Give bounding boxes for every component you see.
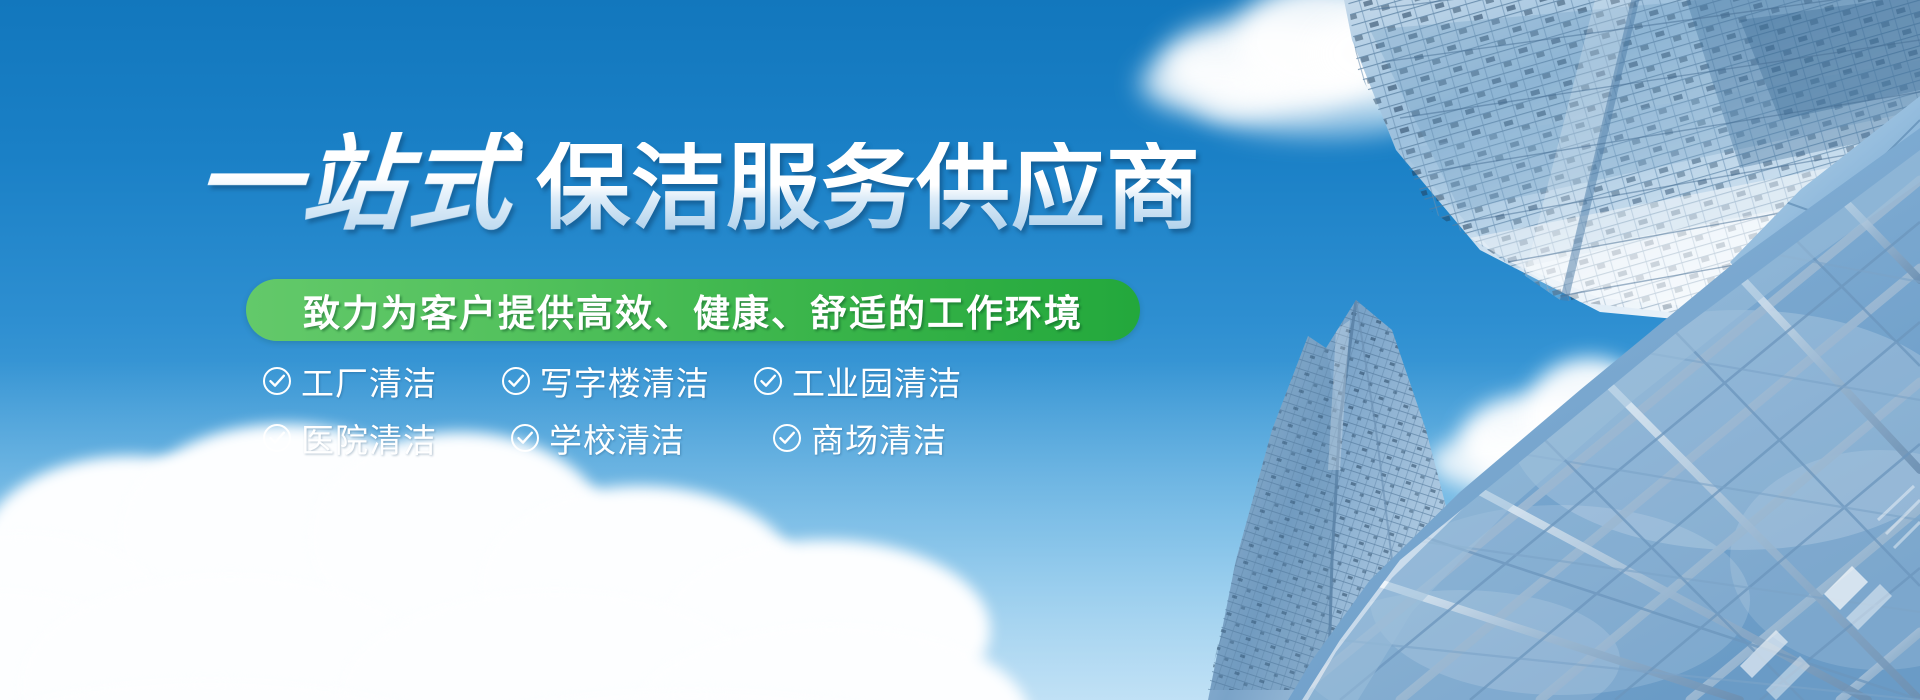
headline: 一站式 保洁服务供应商 xyxy=(196,132,1201,236)
feature-label: 学校清洁 xyxy=(549,414,685,462)
feature-item-hospital-cleaning[interactable]: 医院清洁 xyxy=(262,414,510,462)
feature-list: 工厂清洁 写字楼清洁 工业园清洁 xyxy=(262,352,962,466)
check-circle-icon xyxy=(772,423,802,453)
feature-item-school-cleaning[interactable]: 学校清洁 xyxy=(510,414,772,462)
feature-label: 写字楼清洁 xyxy=(540,357,710,405)
feature-item-factory-cleaning[interactable]: 工厂清洁 xyxy=(262,357,501,405)
feature-item-office-building-cleaning[interactable]: 写字楼清洁 xyxy=(501,357,753,405)
check-circle-icon xyxy=(262,366,292,396)
subtitle-text: 致力为客户提供高效、健康、舒适的工作环境 xyxy=(303,283,1083,337)
headline-brush-text: 一站式 xyxy=(192,132,523,236)
feature-row-1: 工厂清洁 写字楼清洁 工业园清洁 xyxy=(262,352,962,409)
check-circle-icon xyxy=(501,366,531,396)
feature-item-industrial-park-cleaning[interactable]: 工业园清洁 xyxy=(753,357,962,405)
check-circle-icon xyxy=(510,423,540,453)
feature-label: 工业园清洁 xyxy=(792,357,962,405)
feature-item-mall-cleaning[interactable]: 商场清洁 xyxy=(772,414,947,462)
hero-banner: 一站式 保洁服务供应商 致力为客户提供高效、健康、舒适的工作环境 工厂清洁 写字… xyxy=(0,0,1920,700)
banner-content: 一站式 保洁服务供应商 致力为客户提供高效、健康、舒适的工作环境 工厂清洁 写字… xyxy=(0,0,1200,700)
feature-label: 医院清洁 xyxy=(301,414,437,462)
feature-label: 工厂清洁 xyxy=(301,357,437,405)
subtitle-pill: 致力为客户提供高效、健康、舒适的工作环境 xyxy=(246,279,1140,341)
headline-gothic-text: 保洁服务供应商 xyxy=(536,142,1201,236)
check-circle-icon xyxy=(262,423,292,453)
check-circle-icon xyxy=(753,366,783,396)
feature-label: 商场清洁 xyxy=(811,414,947,462)
feature-row-2: 医院清洁 学校清洁 商场清洁 xyxy=(262,409,962,466)
